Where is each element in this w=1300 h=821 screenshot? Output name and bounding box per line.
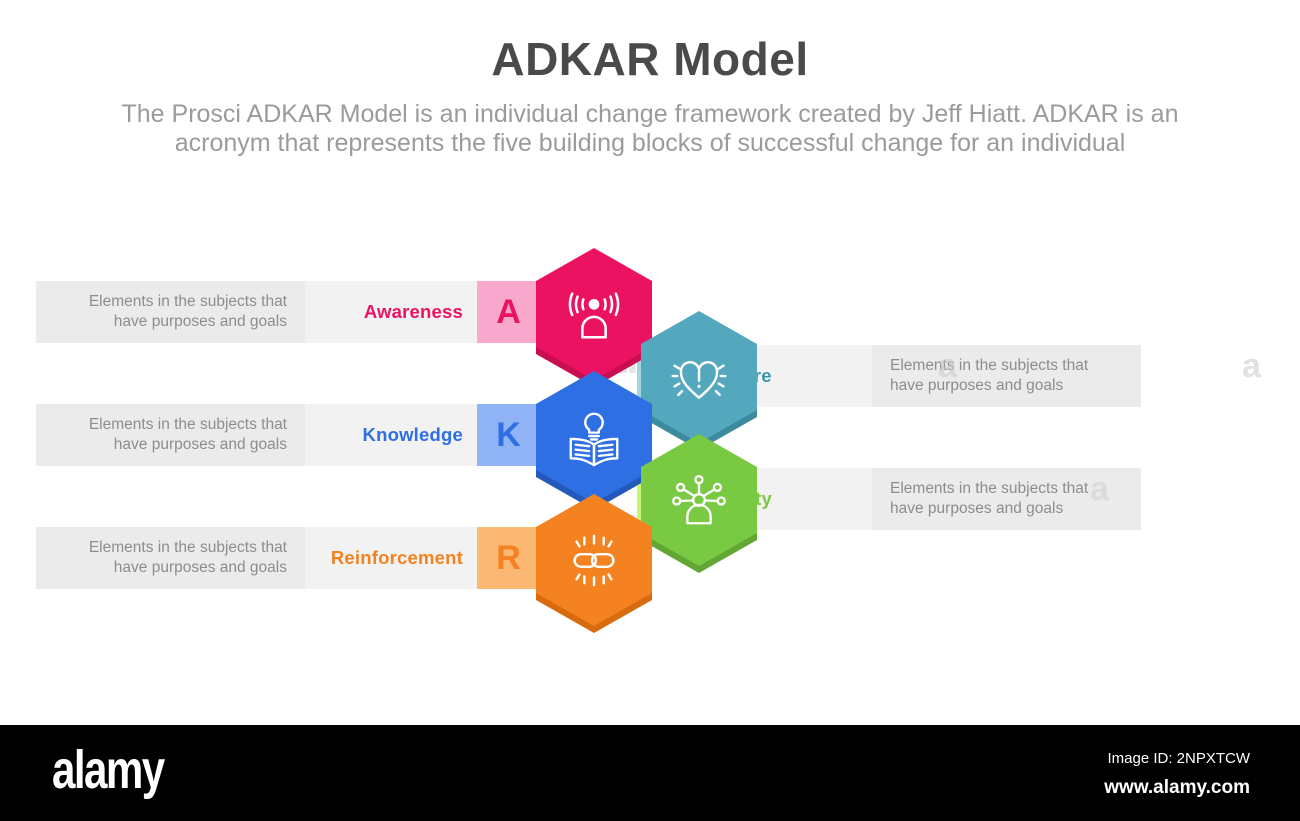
label-text-reinforcement: Reinforcement [331,547,463,569]
description-text-knowledge: Elements in the subjects that have purpo… [89,415,287,455]
adkar-diagram: Elements in the subjects that have purpo… [0,0,1300,725]
letter-text-knowledge: K [496,418,521,452]
alamy-watermark-footer: alamy Image ID: 2NPXTCW www.alamy.com [0,725,1300,821]
description-text-desire: Elements in the subjects that have purpo… [890,356,1088,396]
adkar-row-knowledge[interactable]: Elements in the subjects that have purpo… [36,404,540,466]
alamy-url-text[interactable]: www.alamy.com [1104,777,1250,799]
alamy-logo: alamy [52,743,164,797]
label-box-awareness: Awareness [305,281,477,343]
letter-box-awareness: A [477,281,540,343]
watermark-a-right: a [1242,347,1261,386]
hexagon-reinforcement[interactable] [532,493,656,633]
description-box-reinforcement: Elements in the subjects that have purpo… [36,527,305,589]
letter-text-awareness: A [496,295,521,329]
description-box-knowledge: Elements in the subjects that have purpo… [36,404,305,466]
label-box-reinforcement: Reinforcement [305,527,477,589]
description-text-awareness: Elements in the subjects that have purpo… [89,292,287,332]
description-box-awareness: Elements in the subjects that have purpo… [36,281,305,343]
description-box-desire: Elements in the subjects that have purpo… [872,345,1141,407]
letter-box-reinforcement: R [477,527,540,589]
description-text-reinforcement: Elements in the subjects that have purpo… [89,538,287,578]
adkar-row-awareness[interactable]: Elements in the subjects that have purpo… [36,281,540,343]
letter-box-knowledge: K [477,404,540,466]
letter-text-reinforcement: R [496,541,521,575]
image-id-text: Image ID: 2NPXTCW [1107,750,1250,767]
adkar-row-reinforcement[interactable]: Elements in the subjects that have purpo… [36,527,540,589]
label-text-awareness: Awareness [364,301,463,323]
description-box-ability: Elements in the subjects that have purpo… [872,468,1141,530]
label-box-knowledge: Knowledge [305,404,477,466]
description-text-ability: Elements in the subjects that have purpo… [890,479,1088,519]
label-text-knowledge: Knowledge [363,424,463,446]
